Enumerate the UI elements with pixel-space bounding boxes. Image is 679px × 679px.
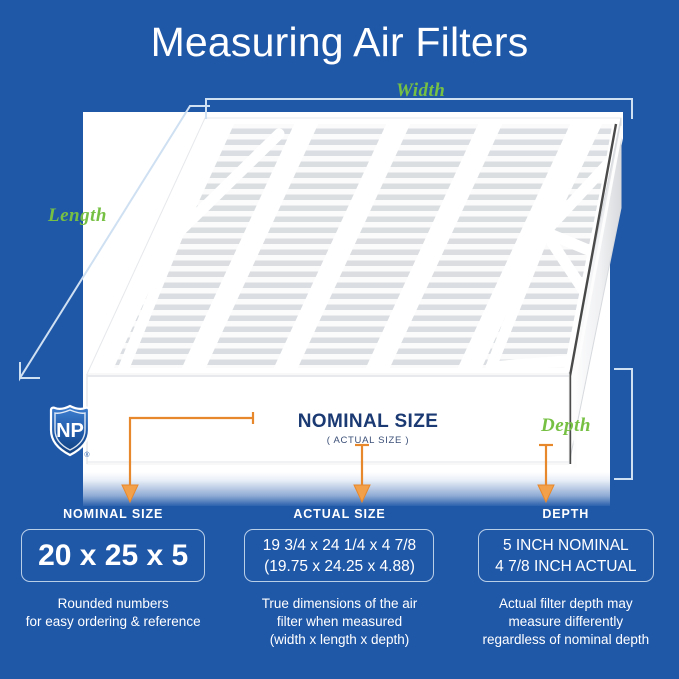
length-bracket bbox=[14, 100, 214, 386]
card-nominal-size: NOMINAL SIZE 20 x 25 x 5 Rounded numbers… bbox=[0, 507, 226, 679]
card-nominal-size-note-line-2: for easy ordering & reference bbox=[11, 613, 216, 631]
card-actual-size-note-line-1: True dimensions of the air bbox=[237, 595, 442, 613]
card-actual-size-note: True dimensions of the air filter when m… bbox=[237, 595, 442, 649]
card-depth-heading: DEPTH bbox=[542, 507, 589, 522]
card-actual-size-note-line-3: (width x length x depth) bbox=[237, 631, 442, 649]
card-depth-note-line-2: measure differently bbox=[463, 613, 668, 631]
card-actual-size-value-line-2: (19.75 x 24.25 x 4.88) bbox=[264, 556, 415, 577]
card-depth-value-line-2: 4 7/8 INCH ACTUAL bbox=[495, 556, 636, 577]
card-depth-value-box: 5 INCH NOMINAL 4 7/8 INCH ACTUAL bbox=[478, 529, 654, 582]
card-nominal-size-value-box: 20 x 25 x 5 bbox=[21, 529, 205, 582]
card-nominal-size-value-line-1: 20 x 25 x 5 bbox=[38, 540, 188, 572]
card-actual-size-value-line-1: 19 3/4 x 24 1/4 x 4 7/8 bbox=[263, 535, 416, 556]
summary-cards: NOMINAL SIZE 20 x 25 x 5 Rounded numbers… bbox=[0, 507, 679, 679]
card-depth-value-line-1: 5 INCH NOMINAL bbox=[503, 535, 629, 556]
card-nominal-size-heading: NOMINAL SIZE bbox=[63, 507, 163, 522]
length-label: Length bbox=[48, 205, 107, 227]
card-depth-note: Actual filter depth may measure differen… bbox=[463, 595, 668, 649]
card-nominal-size-note-line-1: Rounded numbers bbox=[11, 595, 216, 613]
callout-connector-lines bbox=[0, 395, 679, 515]
width-label: Width bbox=[396, 80, 445, 102]
page-title: Measuring Air Filters bbox=[0, 18, 679, 66]
card-actual-size-value-box: 19 3/4 x 24 1/4 x 4 7/8 (19.75 x 24.25 x… bbox=[244, 529, 434, 582]
card-actual-size: ACTUAL SIZE 19 3/4 x 24 1/4 x 4 7/8 (19.… bbox=[226, 507, 452, 679]
card-nominal-size-note: Rounded numbers for easy ordering & refe… bbox=[11, 595, 216, 631]
card-actual-size-note-line-2: filter when measured bbox=[237, 613, 442, 631]
card-depth-note-line-3: regardless of nominal depth bbox=[463, 631, 668, 649]
card-actual-size-heading: ACTUAL SIZE bbox=[293, 507, 385, 522]
infographic-canvas: Measuring Air Filters bbox=[0, 0, 679, 679]
card-depth: DEPTH 5 INCH NOMINAL 4 7/8 INCH ACTUAL A… bbox=[453, 507, 679, 679]
card-depth-note-line-1: Actual filter depth may bbox=[463, 595, 668, 613]
